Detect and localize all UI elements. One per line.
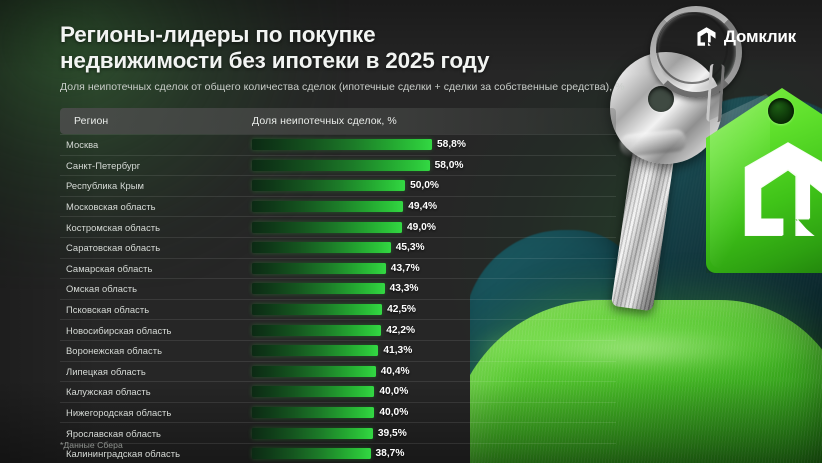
table-row: Республика Крым50,0% [60, 176, 616, 197]
bar-track: 41,3% [252, 345, 488, 356]
bar-track: 45,3% [252, 242, 488, 253]
bar-track: 42,2% [252, 325, 488, 336]
region-label: Москва [66, 139, 98, 150]
column-header-share: Доля неипотечных сделок, % [252, 115, 397, 127]
table-row: Саратовская область45,3% [60, 238, 616, 259]
bar-value-label: 49,4% [408, 201, 437, 212]
table-row: Омская область43,3% [60, 279, 616, 300]
source-footnote: *Данные Сбера [60, 440, 123, 450]
bar-value-label: 58,0% [435, 160, 464, 171]
bar-fill [252, 201, 403, 212]
bar-value-label: 42,5% [387, 304, 416, 315]
table-row: Воронежская область41,3% [60, 341, 616, 362]
table-row: Калужская область40,0% [60, 382, 616, 403]
table-row: Санкт-Петербург58,0% [60, 156, 616, 177]
bar-value-label: 40,0% [379, 386, 408, 397]
bar-value-label: 45,3% [396, 242, 425, 253]
bar-track: 58,0% [252, 160, 488, 171]
bar-track: 50,0% [252, 180, 488, 191]
bar-fill [252, 366, 376, 377]
page-title: Регионы-лидеры по покупке недвижимости б… [60, 22, 490, 74]
page-subtitle: Доля неипотечных сделок от общего количе… [60, 80, 750, 94]
table-row: Липецкая область40,4% [60, 362, 616, 383]
bar-fill [252, 263, 386, 274]
region-label: Самарская область [66, 263, 152, 274]
bar-track: 43,7% [252, 263, 488, 274]
bar-fill [252, 325, 381, 336]
bar-value-label: 49,0% [407, 222, 436, 233]
regions-bar-table: Регион Доля неипотечных сделок, % Москва… [60, 108, 616, 463]
region-label: Республика Крым [66, 180, 144, 191]
region-label: Омская область [66, 283, 137, 294]
table-row: Калининградская область38,7% [60, 444, 616, 463]
table-row: Московская область49,4% [60, 197, 616, 218]
bar-fill [252, 386, 374, 397]
bar-track: 49,0% [252, 222, 488, 233]
region-label: Московская область [66, 201, 156, 212]
region-label: Санкт-Петербург [66, 160, 140, 171]
bar-fill [252, 242, 391, 253]
region-label: Новосибирская область [66, 325, 171, 336]
bar-track: 38,7% [252, 448, 488, 459]
bar-track: 49,4% [252, 201, 488, 212]
region-label: Костромская область [66, 222, 160, 233]
bar-fill [252, 407, 374, 418]
bar-fill [252, 345, 378, 356]
region-label: Воронежская область [66, 345, 162, 356]
bar-value-label: 41,3% [383, 345, 412, 356]
bar-value-label: 50,0% [410, 180, 439, 191]
bar-fill [252, 448, 371, 459]
bar-fill [252, 283, 385, 294]
bar-fill [252, 139, 432, 150]
bar-value-label: 40,0% [379, 407, 408, 418]
bar-fill [252, 428, 373, 439]
bar-fill [252, 180, 405, 191]
table-row: Костромская область49,0% [60, 217, 616, 238]
region-label: Ярославская область [66, 428, 161, 439]
domclick-house-icon [696, 26, 717, 47]
bar-track: 40,0% [252, 386, 488, 397]
bar-value-label: 43,7% [391, 263, 420, 274]
region-label: Липецкая область [66, 366, 146, 377]
table-header-row: Регион Доля неипотечных сделок, % [60, 108, 616, 134]
table-row: Псковская область42,5% [60, 300, 616, 321]
bar-value-label: 39,5% [378, 428, 407, 439]
region-label: Псковская область [66, 304, 149, 315]
bar-track: 40,0% [252, 407, 488, 418]
bar-value-label: 43,3% [390, 283, 419, 294]
column-header-region: Регион [74, 115, 108, 127]
bar-value-label: 42,2% [386, 325, 415, 336]
region-label: Нижегородская область [66, 407, 171, 418]
bar-fill [252, 160, 430, 171]
region-label: Саратовская область [66, 242, 160, 253]
table-row: Ярославская область39,5% [60, 423, 616, 444]
bar-track: 39,5% [252, 428, 488, 439]
bar-fill [252, 222, 402, 233]
infographic-root: Регионы-лидеры по покупке недвижимости б… [0, 0, 822, 463]
bar-track: 40,4% [252, 366, 488, 377]
table-row: Новосибирская область42,2% [60, 320, 616, 341]
brand-logo: Домклик [696, 26, 796, 47]
bar-value-label: 40,4% [381, 366, 410, 377]
bar-track: 42,5% [252, 304, 488, 315]
bar-track: 43,3% [252, 283, 488, 294]
brand-logo-text: Домклик [724, 27, 796, 47]
table-body: Москва58,8%Санкт-Петербург58,0%Республик… [60, 134, 616, 463]
table-row: Нижегородская область40,0% [60, 403, 616, 424]
bar-value-label: 58,8% [437, 139, 466, 150]
bar-fill [252, 304, 382, 315]
table-row: Москва58,8% [60, 134, 616, 156]
bar-value-label: 38,7% [376, 448, 405, 459]
table-row: Самарская область43,7% [60, 259, 616, 280]
region-label: Калужская область [66, 386, 151, 397]
bar-track: 58,8% [252, 139, 488, 150]
